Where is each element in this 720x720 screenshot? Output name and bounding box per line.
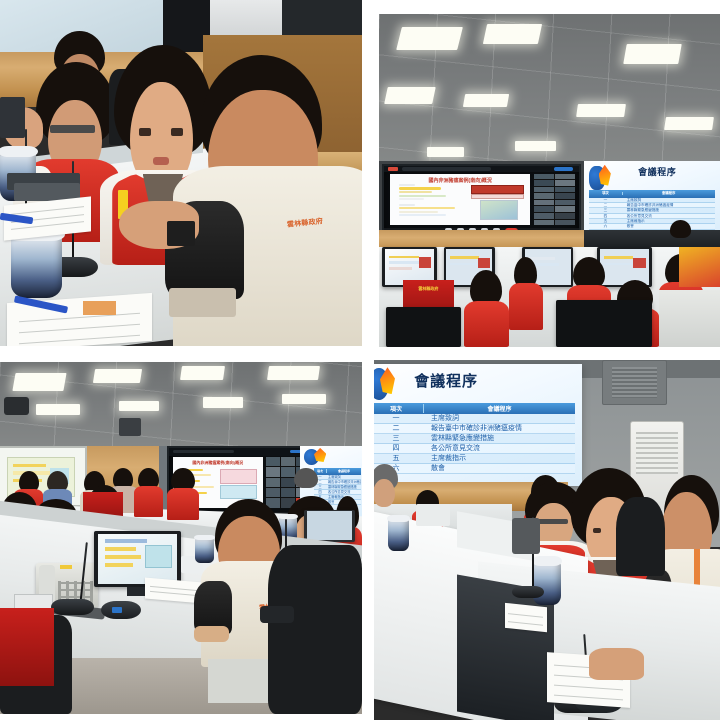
photo-top-left[interactable]: 雲林縣政府 [0, 0, 362, 346]
conference-slide-button [471, 185, 523, 194]
agenda-header-no-wide: 項次 [589, 192, 623, 195]
mesh-chair [616, 497, 664, 576]
microphone-base-disc [101, 601, 141, 619]
handout-br-2 [505, 603, 547, 633]
projected-row-item: 散會 [423, 464, 575, 473]
ceiling-light-d [267, 366, 320, 380]
desk-microphone[interactable] [51, 524, 94, 616]
agenda-row-item: 報告臺中市確診非洲豬瘟疫情 [326, 480, 361, 484]
projected-row-no: 一 [374, 414, 423, 423]
agenda-header-item-side: 會議程序 [327, 469, 361, 473]
clasped-hands [589, 648, 644, 680]
agenda-row-no: 四 [589, 214, 622, 218]
staff-row-a5 [134, 468, 163, 517]
photo-top-right[interactable]: 國內非洲豬瘟案例(南向)概況 [379, 14, 720, 347]
ceiling-light-h [282, 394, 325, 405]
staff-back-1 [464, 270, 508, 347]
wall-panel [210, 0, 282, 35]
ceiling-light-g [203, 397, 243, 408]
agenda-row-item: 報告臺中市確診非洲豬瘟疫情 [622, 203, 715, 207]
projected-row-item: 各公所意見交流 [423, 444, 575, 453]
foreground-monitor-left [386, 307, 461, 347]
photo-bottom-right[interactable]: 會議程序 項次 會議程序 一主席致詞 二報告臺中市確診非洲豬瘟疫情 三雲林縣緊急… [374, 360, 720, 720]
agenda-row-item: 主席致詞 [326, 475, 361, 479]
projected-header-no: 項次 [374, 404, 424, 413]
agenda-row-no: 六 [589, 224, 622, 228]
projected-row-item: 報告臺中市確診非洲豬瘟疫情 [423, 424, 575, 433]
projected-agenda-slide: 會議程序 項次 會議程序 一主席致詞 二報告臺中市確診非洲豬瘟疫情 三雲林縣緊急… [374, 364, 582, 486]
ceiling-light-f [119, 401, 159, 412]
scene-operations-desk-side: 國內非洲豬瘟案例(南向)概況 [0, 362, 362, 714]
wall-vent [602, 360, 666, 405]
agenda-row-no: 五 [589, 219, 622, 223]
ceiling-light-a [13, 373, 67, 391]
conference-slide: 國內非洲豬瘟案例(南向)概況 [390, 174, 530, 226]
foreground-desk-panel [659, 290, 720, 347]
ceiling-light-9 [427, 147, 465, 157]
ceiling-light-8 [515, 141, 556, 151]
projected-row-no: 二 [374, 424, 423, 433]
eyeglasses [50, 125, 95, 134]
agenda-row-item: 各公所意見交流 [326, 490, 361, 494]
flag-decoration [679, 247, 720, 287]
projected-row-no: 五 [374, 454, 423, 463]
projected-row-no: 三 [374, 434, 423, 443]
highlight-mark [83, 301, 116, 315]
video-wall-left[interactable]: 國內非洲豬瘟案例(南向)概況 [382, 164, 580, 238]
foreground-monitor-right [556, 300, 651, 347]
ceiling-light-5 [463, 94, 510, 107]
agenda-title-wide: 會議程序 [638, 165, 676, 178]
staff-back-2 [509, 257, 543, 330]
ceiling-camera [4, 397, 29, 415]
scene-agenda-presentation: 會議程序 項次 會議程序 一主席致詞 二報告臺中市確診非洲豬瘟疫情 三雲林縣緊急… [374, 360, 720, 720]
agenda-row-no: 一 [589, 198, 622, 202]
wrist-watch [167, 221, 196, 245]
ceiling-light-e [36, 404, 79, 415]
projected-header-item: 會議程序 [424, 404, 575, 413]
photo-collage: 雲林縣政府 [0, 0, 720, 720]
ceiling-light-b [93, 369, 142, 383]
ceiling-light-7 [665, 117, 715, 130]
ceiling-light-6 [576, 104, 626, 117]
tea-cup-far [388, 518, 409, 550]
agenda-row-item: 各公所意見交流 [622, 214, 715, 218]
projected-row-item: 主席裁指示 [423, 454, 575, 463]
agenda-row-item: 雲林縣緊急應變措施 [622, 208, 715, 212]
ceiling-light-3 [623, 44, 681, 64]
projected-row-item: 雲林縣緊急應變措施 [423, 434, 575, 443]
ceiling-light-4 [384, 87, 435, 104]
ceiling-light-c [180, 366, 225, 380]
sleeve-cuff [169, 288, 235, 317]
agenda-row-item: 主席致詞 [622, 198, 715, 202]
desk-device-br [512, 518, 540, 554]
ceiling-light-2 [483, 24, 542, 44]
projected-row-item: 主席致詞 [423, 414, 575, 423]
tea-cup-front [11, 235, 62, 297]
agenda-header-item-wide: 會議程序 [623, 192, 715, 195]
video-wall-slide-title: 國內非洲豬瘟案例(南向)概況 [178, 460, 257, 466]
person-foreground-man: 雲林縣政府 [181, 55, 362, 346]
scene-conference-table: 雲林縣政府 [0, 0, 362, 346]
ceiling-speaker [119, 418, 141, 436]
agenda-slide-wide: 會議程序 項次 會議程序 一主席致詞 二報告臺中市確診非洲豬瘟疫情 三雲林縣緊急… [584, 161, 720, 231]
projected-agenda-title: 會議程序 [414, 370, 478, 391]
photo-bottom-left[interactable]: 國內非洲豬瘟案例(南向)概況 [0, 362, 362, 714]
staff-row-a6 [167, 468, 200, 521]
conference-slide-title: 國內非洲豬瘟案例(南向)概況 [399, 177, 522, 184]
agenda-row-item: 雲林縣緊急應變措施 [326, 485, 361, 489]
projected-row-no: 四 [374, 444, 423, 453]
agenda-row-no: 三 [589, 208, 622, 212]
agenda-row-no: 二 [589, 203, 622, 207]
ceiling-light-1 [397, 27, 464, 50]
desk-paper-tray [416, 504, 451, 526]
operator-chair [268, 545, 362, 714]
operator-hands [194, 626, 229, 642]
foreground-red-banner [0, 608, 54, 685]
video-participant-grid [534, 174, 575, 226]
scene-operations-centre-wide: 國內非洲豬瘟案例(南向)概況 [379, 14, 720, 347]
